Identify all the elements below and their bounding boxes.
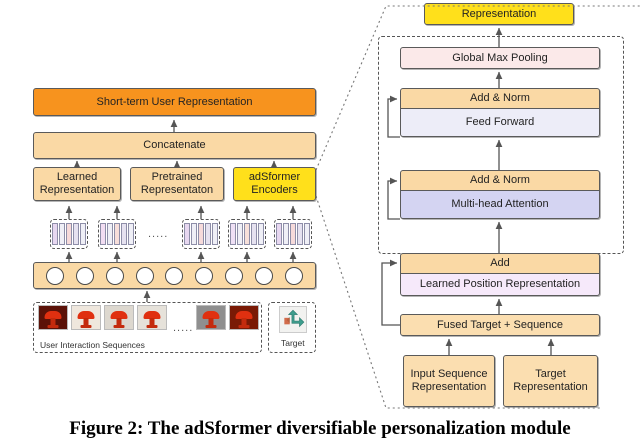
vector-bar	[258, 223, 264, 245]
vector-bar	[73, 223, 79, 245]
short-term-user-representation-label: Short-term User Representation	[97, 96, 253, 109]
fused-target-sequence-box: Fused Target + Sequence	[400, 314, 600, 336]
representation-box: Representation	[424, 3, 574, 25]
add-box: Add	[400, 253, 600, 274]
pretrained-representation-box: Pretrained Representaton	[130, 167, 224, 201]
vector-bar	[100, 223, 106, 245]
vector-bar	[212, 223, 218, 245]
multi-head-attention-label: Multi-head Attention	[451, 198, 548, 211]
figure-caption: Figure 2: The adSformer diversifiable pe…	[0, 418, 640, 440]
token-circle	[76, 267, 94, 285]
vector-bar	[121, 223, 127, 245]
vector-bundle	[182, 219, 220, 249]
add-label: Add	[490, 257, 510, 270]
target-label: Target	[281, 338, 305, 348]
add-norm-lower-box: Add & Norm	[400, 170, 600, 191]
token-circle	[225, 267, 243, 285]
vector-bar	[52, 223, 58, 245]
thumbnail-red-lamp-table	[137, 305, 167, 330]
vector-bar	[198, 223, 204, 245]
vector-bar	[59, 223, 65, 245]
fused-target-sequence-label: Fused Target + Sequence	[437, 319, 563, 332]
token-circle	[46, 267, 64, 285]
vector-bar	[304, 223, 310, 245]
vector-bar	[107, 223, 113, 245]
adsformer-encoders-box: adSformer Encoders	[233, 167, 316, 201]
input-sequence-representation-label: Input Sequence Representation	[404, 368, 494, 393]
vector-bar	[290, 223, 296, 245]
vector-bar	[128, 223, 134, 245]
vector-bar	[244, 223, 250, 245]
token-circle	[255, 267, 273, 285]
thumbnail-red-lamp-glow	[229, 305, 259, 330]
feed-forward-box: Feed Forward	[400, 109, 600, 137]
thumbnail-row-tail	[196, 305, 262, 330]
thumbnail-red-lamp-dark	[38, 305, 68, 330]
concatenate-label: Concatenate	[143, 139, 205, 152]
residual-position-add	[382, 263, 400, 325]
representation-label: Representation	[462, 8, 537, 21]
input-sequence-representation-box: Input Sequence Representation	[403, 355, 495, 407]
recycle-arrow-icon	[280, 307, 306, 333]
token-circle	[136, 267, 154, 285]
add-norm-upper-box: Add & Norm	[400, 88, 600, 109]
vector-bar	[114, 223, 120, 245]
thumbnail-ellipsis: .....	[173, 322, 193, 334]
thumbnail-red-lamp-wall	[104, 305, 134, 330]
vector-bar	[191, 223, 197, 245]
multi-head-attention-box: Multi-head Attention	[400, 191, 600, 219]
vector-bundle	[228, 219, 266, 249]
vector-bar	[251, 223, 257, 245]
target-thumbnail	[279, 306, 307, 333]
short-term-user-representation-box: Short-term User Representation	[33, 88, 316, 116]
vector-bundle	[274, 219, 312, 249]
token-circle	[195, 267, 213, 285]
vector-bar	[276, 223, 282, 245]
vector-bar	[283, 223, 289, 245]
vector-bundle-ellipsis: .....	[148, 228, 168, 240]
vector-bar	[230, 223, 236, 245]
learned-position-representation-box: Learned Position Representation	[400, 274, 600, 296]
vector-bar	[205, 223, 211, 245]
vector-bundle	[98, 219, 136, 249]
add-norm-lower-label: Add & Norm	[470, 174, 530, 187]
vector-bar	[237, 223, 243, 245]
token-circle	[285, 267, 303, 285]
add-norm-upper-label: Add & Norm	[470, 92, 530, 105]
global-max-pooling-label: Global Max Pooling	[452, 52, 547, 65]
vector-bar	[66, 223, 72, 245]
pretrained-representation-label: Pretrained Representaton	[131, 171, 223, 196]
feed-forward-label: Feed Forward	[466, 116, 534, 129]
vector-bar	[80, 223, 86, 245]
token-circle	[165, 267, 183, 285]
thumbnail-row	[38, 305, 170, 330]
adsformer-encoders-label: adSformer Encoders	[234, 171, 315, 196]
vector-bundle	[50, 219, 88, 249]
thumbnail-red-lamp-grey	[196, 305, 226, 330]
concatenate-box: Concatenate	[33, 132, 316, 159]
target-representation-box: Target Representation	[503, 355, 598, 407]
token-circle	[106, 267, 124, 285]
target-representation-label: Target Representation	[504, 368, 597, 393]
vector-bar	[184, 223, 190, 245]
global-max-pooling-box: Global Max Pooling	[400, 47, 600, 69]
learned-position-representation-label: Learned Position Representation	[420, 278, 580, 291]
token-circle-row	[33, 262, 316, 289]
figure-adsformer-module: Short-term User Representation Concatena…	[0, 0, 640, 443]
learned-representation-label: Learned Representation	[34, 171, 120, 196]
user-interaction-sequences-label: User Interaction Sequences	[40, 340, 145, 350]
thumbnail-red-lamp-light	[71, 305, 101, 330]
learned-representation-box: Learned Representation	[33, 167, 121, 201]
vector-bar	[297, 223, 303, 245]
